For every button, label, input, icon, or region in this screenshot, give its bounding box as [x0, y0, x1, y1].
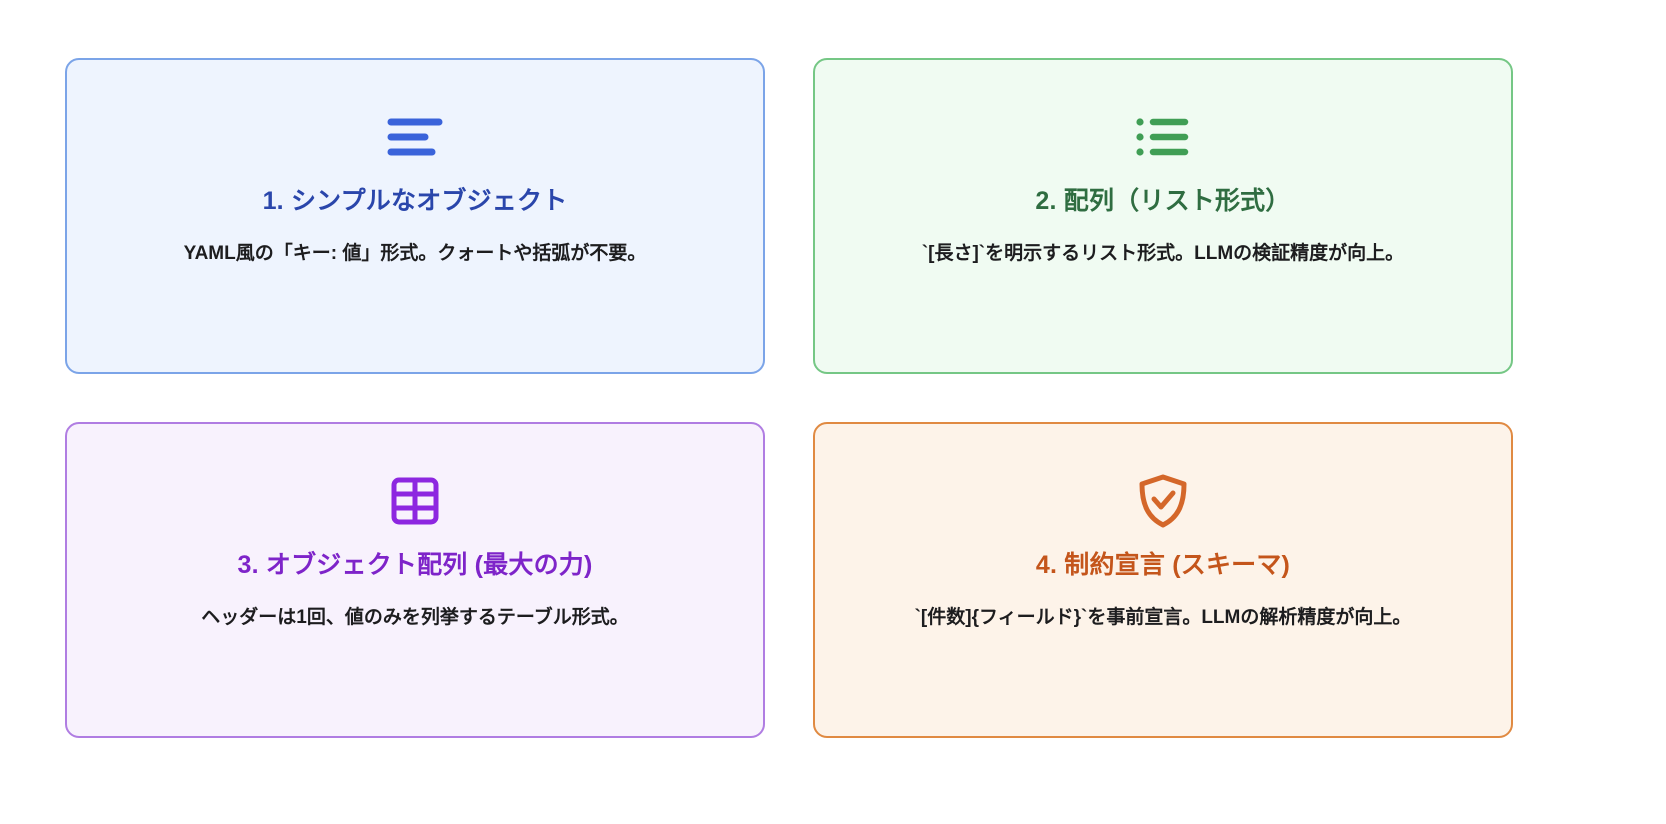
card-title: 2. 配列（リスト形式）	[1035, 186, 1290, 217]
align-justify-icon	[386, 104, 444, 170]
card-title: 3. オブジェクト配列 (最大の力)	[238, 550, 593, 581]
shield-check-icon	[1137, 468, 1189, 534]
page-root: 1. シンプルなオブジェクト YAML風の「キー: 値」形式。クォートや括弧が不…	[0, 0, 1666, 824]
list-bullet-icon	[1134, 104, 1192, 170]
card-description: `[件数]{フィールド}`を事前宣言。LLMの解析精度が向上。	[915, 603, 1412, 632]
feature-card-constraint-declaration[interactable]: 4. 制約宣言 (スキーマ) `[件数]{フィールド}`を事前宣言。LLMの解析…	[813, 422, 1513, 738]
feature-card-simple-object[interactable]: 1. シンプルなオブジェクト YAML風の「キー: 値」形式。クォートや括弧が不…	[65, 58, 765, 374]
table-grid-icon	[389, 468, 441, 534]
card-title: 1. シンプルなオブジェクト	[263, 186, 568, 217]
card-title: 4. 制約宣言 (スキーマ)	[1036, 550, 1290, 581]
card-description: `[長さ]`を明示するリスト形式。LLMの検証精度が向上。	[922, 239, 1404, 268]
card-description: ヘッダーは1回、値のみを列挙するテーブル形式。	[201, 603, 628, 632]
card-description: YAML風の「キー: 値」形式。クォートや括弧が不要。	[184, 239, 647, 268]
feature-card-grid: 1. シンプルなオブジェクト YAML風の「キー: 値」形式。クォートや括弧が不…	[65, 58, 1513, 738]
feature-card-object-array[interactable]: 3. オブジェクト配列 (最大の力) ヘッダーは1回、値のみを列挙するテーブル形…	[65, 422, 765, 738]
feature-card-array-list[interactable]: 2. 配列（リスト形式） `[長さ]`を明示するリスト形式。LLMの検証精度が向…	[813, 58, 1513, 374]
